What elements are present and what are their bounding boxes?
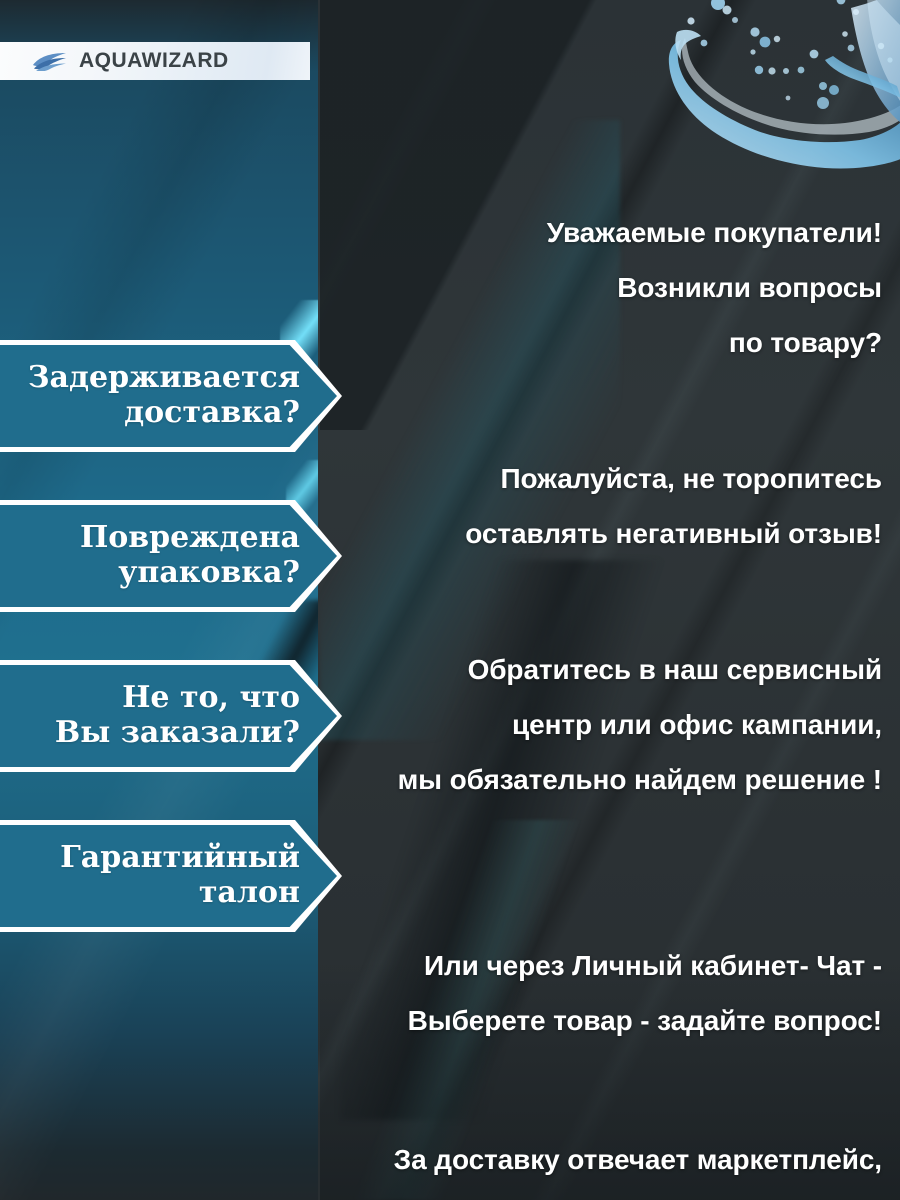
banner-label: Гарантийный талон	[4, 820, 300, 932]
banner-label: Повреждена упаковка?	[4, 500, 300, 612]
message-personal-account: Или через Личный кабинет- Чат - Выберете…	[330, 938, 882, 1048]
water-splash-icon	[655, 0, 900, 170]
promo-banner-page: AQUAWIZARD Задерживается доставка? Повре…	[0, 0, 900, 1200]
banner-label: Не то, что Вы заказали?	[4, 660, 300, 772]
brand-name: AQUAWIZARD	[79, 49, 229, 73]
banner-wrong-item[interactable]: Не то, что Вы заказали?	[0, 660, 342, 772]
brand-logo-bar: AQUAWIZARD	[0, 42, 310, 80]
message-contact-service: Обратитесь в наш сервисный центр или офи…	[330, 642, 882, 807]
banner-delivery-delayed[interactable]: Задерживается доставка?	[0, 340, 342, 452]
banner-warranty-card[interactable]: Гарантийный талон	[0, 820, 342, 932]
message-column: Уважаемые покупатели! Возникли вопросы п…	[330, 150, 882, 1200]
message-marketplace-responsible: За доставку отвечает маркетплейс, а не п…	[330, 1132, 882, 1200]
wave-icon	[32, 51, 70, 71]
banner-label: Задерживается доставка?	[4, 340, 300, 452]
message-greeting: Уважаемые покупатели! Возникли вопросы п…	[330, 205, 882, 370]
banner-packaging-damaged[interactable]: Повреждена упаковка?	[0, 500, 342, 612]
message-dont-rush: Пожалуйста, не торопитесь оставлять нега…	[330, 451, 882, 561]
